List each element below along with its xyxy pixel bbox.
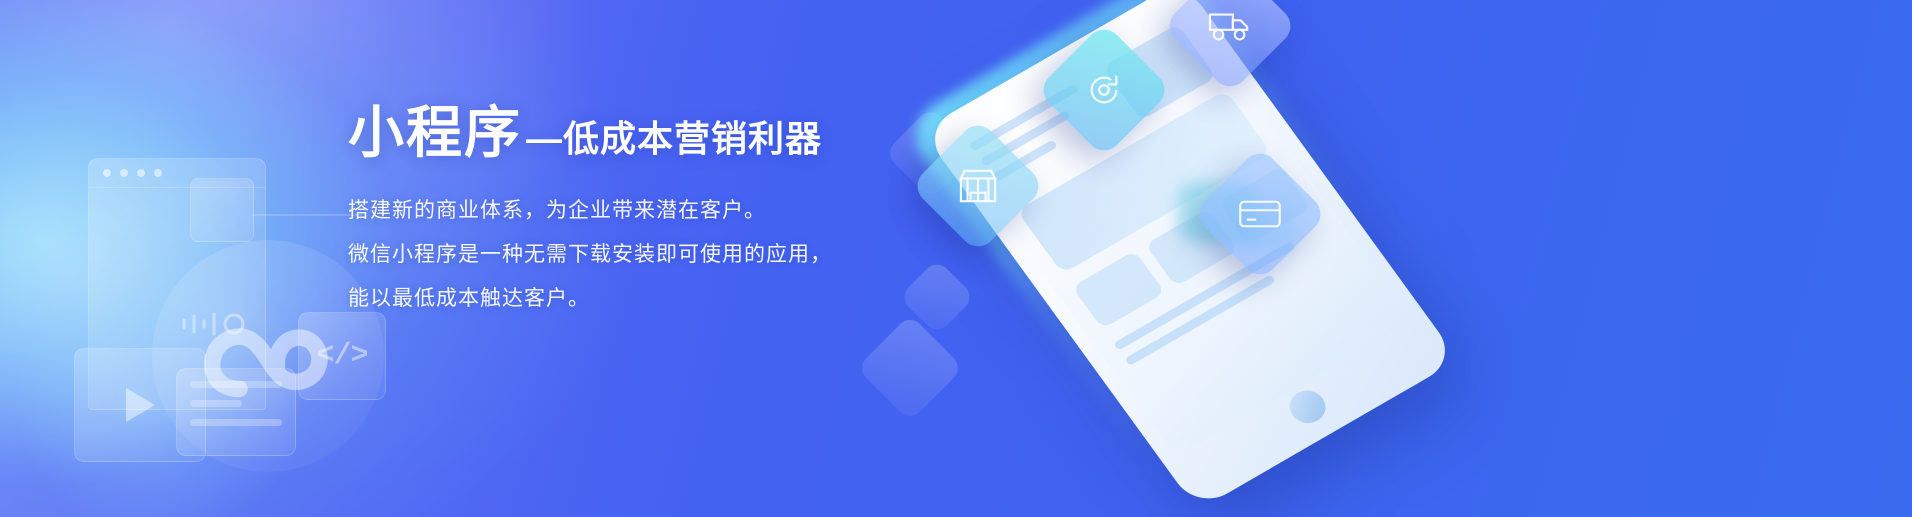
phone-mockup: [921, 0, 1458, 511]
list-card-watermark: [176, 368, 296, 456]
description-line-1: 搭建新的商业体系，为企业带来潜在客户。: [348, 196, 928, 226]
phone-home-button: [1283, 385, 1333, 430]
description-line-3: 能以最低成本触达客户。: [348, 284, 928, 314]
hero-illustration: [860, 0, 1910, 517]
hero-banner: </> 小程序 —低成本营销利器 搭建新的商业体系，为企业带来潜在客户。 微信小…: [0, 0, 1912, 517]
page-title: 小程序 —低成本营销利器: [348, 104, 928, 162]
left-glow-secondary: [10, 250, 310, 517]
left-glow-primary: [0, 60, 280, 480]
divider-line-watermark: [252, 214, 362, 216]
description-line-2: 微信小程序是一种无需下载安装即可使用的应用，: [348, 240, 928, 270]
headline-subtitle: —低成本营销利器: [526, 120, 822, 162]
square-watermark: [190, 178, 254, 242]
waveform-icon: [178, 310, 268, 338]
floating-square-3: [856, 314, 963, 421]
video-play-card-watermark: [74, 348, 206, 462]
headline-main: 小程序: [348, 104, 522, 162]
hero-description: 搭建新的商业体系，为企业带来潜在客户。 微信小程序是一种无需下载安装即可使用的应…: [348, 196, 928, 313]
browser-window-watermark: [88, 158, 266, 410]
browser-titlebar: [89, 159, 265, 188]
play-icon: [126, 388, 155, 422]
hero-copy: 小程序 —低成本营销利器 搭建新的商业体系，为企业带来潜在客户。 微信小程序是一…: [348, 104, 928, 328]
